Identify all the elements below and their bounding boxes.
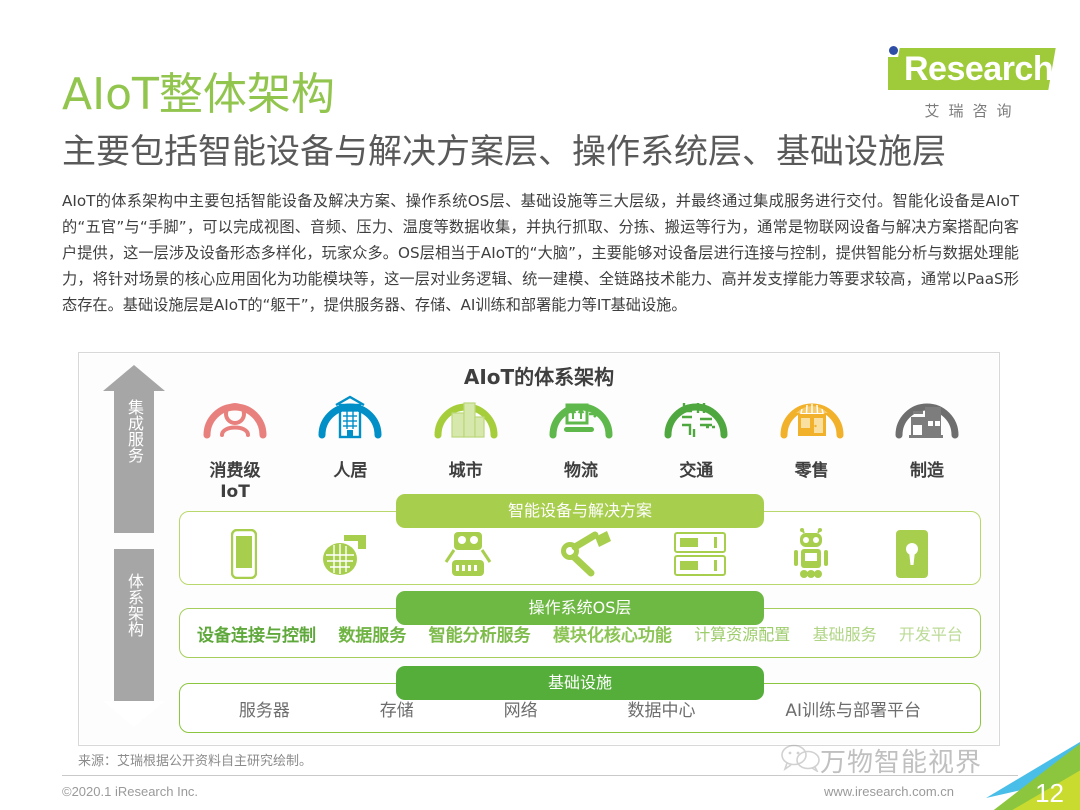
os-item-device-connection: 设备连接与控制: [192, 621, 321, 646]
page-title: AIoT整体架构: [62, 58, 335, 122]
infra-item-ai-platform: AI训练与部署平台: [785, 696, 921, 721]
scenario-label: 零售: [756, 461, 868, 482]
scenario-label: 消费级IoT: [179, 461, 291, 503]
arrow-up-head-icon: [103, 701, 165, 727]
server-rack-icon: [674, 532, 726, 576]
factory-ring-icon: [891, 383, 963, 455]
layer-devices: 智能设备与解决方案: [179, 511, 981, 585]
os-item-data-service: 数据服务: [333, 621, 411, 646]
scenario-logistics: 物流: [525, 383, 637, 482]
layer-os-caption: 操作系统OS层: [396, 591, 764, 625]
os-item-dev-platform: 开发平台: [894, 621, 968, 645]
logo-letter-i: i: [888, 57, 898, 90]
scenario-label: 人居: [294, 461, 406, 482]
scenario-consumer-iot: 消费级IoT: [179, 383, 291, 503]
scenario-label: 物流: [525, 461, 637, 482]
scenario-transport: 交通: [640, 383, 752, 482]
corner-decoration: [982, 738, 1080, 810]
humanoid-robot-icon: [788, 528, 834, 580]
logo-chinese-name: 艾瑞咨询: [878, 100, 1058, 121]
arrow-integration-service: 集成服务: [103, 365, 165, 533]
os-item-basic-service: 基础服务: [808, 621, 882, 645]
layer-os: 操作系统OS层 设备连接与控制 数据服务 智能分析服务 模块化核心功能 计算资源…: [179, 608, 981, 658]
infra-item-server: 服务器: [239, 696, 290, 721]
scenario-label: 城市: [410, 461, 522, 482]
source-note: 来源：艾瑞根据公开资料自主研究绘制。: [78, 750, 312, 769]
city-ring-icon: [430, 383, 502, 455]
store-ring-icon: [776, 383, 848, 455]
iresearch-logo: i Research 艾瑞咨询: [878, 44, 1058, 121]
apartment-ring-icon: [314, 383, 386, 455]
architecture-diagram: AIoT的体系架构 集成服务 体系架构 消费: [78, 352, 1000, 746]
person-ring-icon: [199, 383, 271, 455]
layer-infrastructure: 基础设施 服务器 存储 网络 数据中心 AI训练与部署平台: [179, 683, 981, 733]
page-number: 12: [1035, 778, 1064, 809]
copyright-text: ©2020.1 iResearch Inc.: [62, 784, 198, 799]
logistics-ring-icon: [545, 383, 617, 455]
smartphone-icon: [231, 529, 257, 579]
scenario-city: 城市: [410, 383, 522, 482]
smart-camera-icon: [318, 529, 378, 579]
scenario-residence: 人居: [294, 383, 406, 482]
layer-infrastructure-caption: 基础设施: [396, 666, 764, 700]
website-url: www.iresearch.com.cn: [824, 784, 954, 799]
footer-divider: [62, 775, 1018, 776]
scenario-retail: 零售: [756, 383, 868, 482]
robot-arm-icon: [557, 529, 613, 579]
logo-mark: i Research: [878, 44, 1058, 96]
scenario-manufacturing: 制造: [871, 383, 983, 482]
logo-dot-icon: [889, 46, 898, 55]
arrow-label-architecture: 体系架构: [123, 573, 145, 637]
page-subtitle: 主要包括智能设备与解决方案层、操作系统层、基础设施层: [62, 124, 946, 173]
body-paragraph: AIoT的体系架构中主要包括智能设备及解决方案、操作系统OS层、基础设施等三大层…: [62, 188, 1019, 318]
smart-lock-icon: [895, 529, 929, 579]
drone-icon: [440, 528, 496, 580]
traffic-ring-icon: [660, 383, 732, 455]
wechat-icon: [780, 744, 822, 777]
device-icon-row: [180, 526, 980, 582]
layer-devices-caption: 智能设备与解决方案: [396, 494, 764, 528]
logo-wordmark: Research: [904, 50, 1053, 89]
watermark-text: 万物智能视界: [820, 742, 982, 779]
slide-page: i Research 艾瑞咨询 AIoT整体架构 主要包括智能设备与解决方案层、…: [0, 0, 1080, 810]
scenario-label: 制造: [871, 461, 983, 482]
arrow-up-head-icon: [103, 365, 165, 391]
scenario-label: 交通: [640, 461, 752, 482]
arrow-system-architecture: 体系架构: [103, 549, 165, 727]
arrow-label-integration: 集成服务: [123, 399, 145, 463]
